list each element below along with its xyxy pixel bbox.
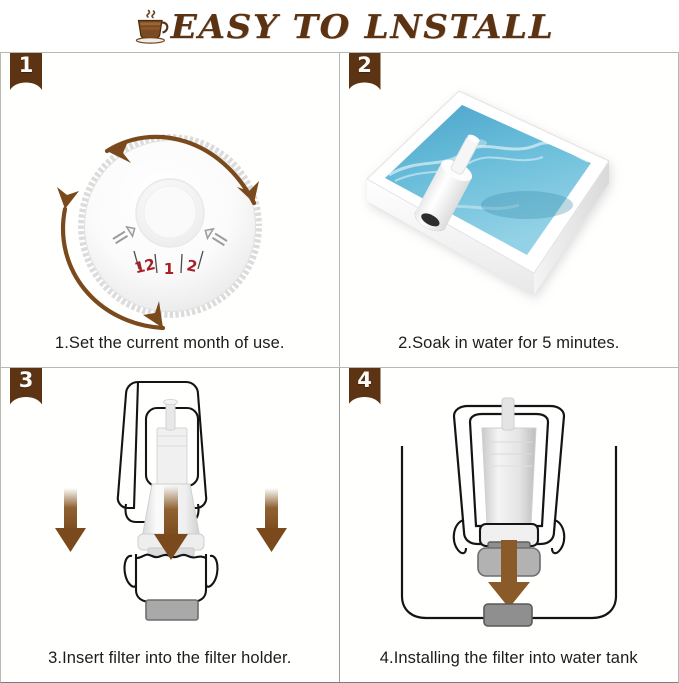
- step-caption-4: 4.Installing the filter into water tank: [340, 649, 679, 668]
- basin-body: [367, 91, 609, 295]
- tank-socket: [484, 604, 532, 626]
- down-arrow-left: [55, 488, 86, 552]
- step-caption-2: 2.Soak in water for 5 minutes.: [340, 334, 679, 353]
- insert-arrows: [55, 486, 287, 560]
- holder-base: [146, 600, 198, 620]
- coffee-cup-icon: [132, 7, 172, 47]
- filter-holder: [124, 554, 217, 602]
- page-title: EASY TO LNSTALL: [171, 10, 555, 43]
- step-panel-4: 4: [340, 368, 679, 683]
- step-caption-1: 1.Set the current month of use.: [1, 334, 339, 353]
- step-number-3: 3: [10, 368, 42, 392]
- page-header: EASY TO LNSTALL: [0, 0, 679, 52]
- step-number-badge-4: 4: [349, 368, 381, 405]
- step-number-1: 1: [10, 53, 42, 77]
- step-number-badge-1: 1: [10, 53, 42, 90]
- holder-into-tank-illustration: [384, 382, 634, 627]
- step-number-4: 4: [349, 368, 381, 392]
- step-panel-1: 1: [1, 53, 340, 368]
- dial-month-1: 1: [164, 260, 174, 278]
- step-caption-3: 3.Insert filter into the filter holder.: [1, 649, 339, 668]
- step-number-badge-3: 3: [10, 368, 42, 405]
- step-panel-3: 3: [1, 368, 340, 683]
- step-number-2: 2: [349, 53, 381, 77]
- down-arrow-right: [256, 488, 287, 552]
- steps-grid: 1: [0, 52, 679, 683]
- water-basin-illustration: [359, 83, 659, 323]
- filter-into-holder-illustration: [40, 376, 300, 626]
- month-dial-illustration: 12 1 2: [45, 99, 295, 349]
- step-panel-2: 2: [340, 53, 679, 368]
- cartridge-shadow: [481, 191, 573, 219]
